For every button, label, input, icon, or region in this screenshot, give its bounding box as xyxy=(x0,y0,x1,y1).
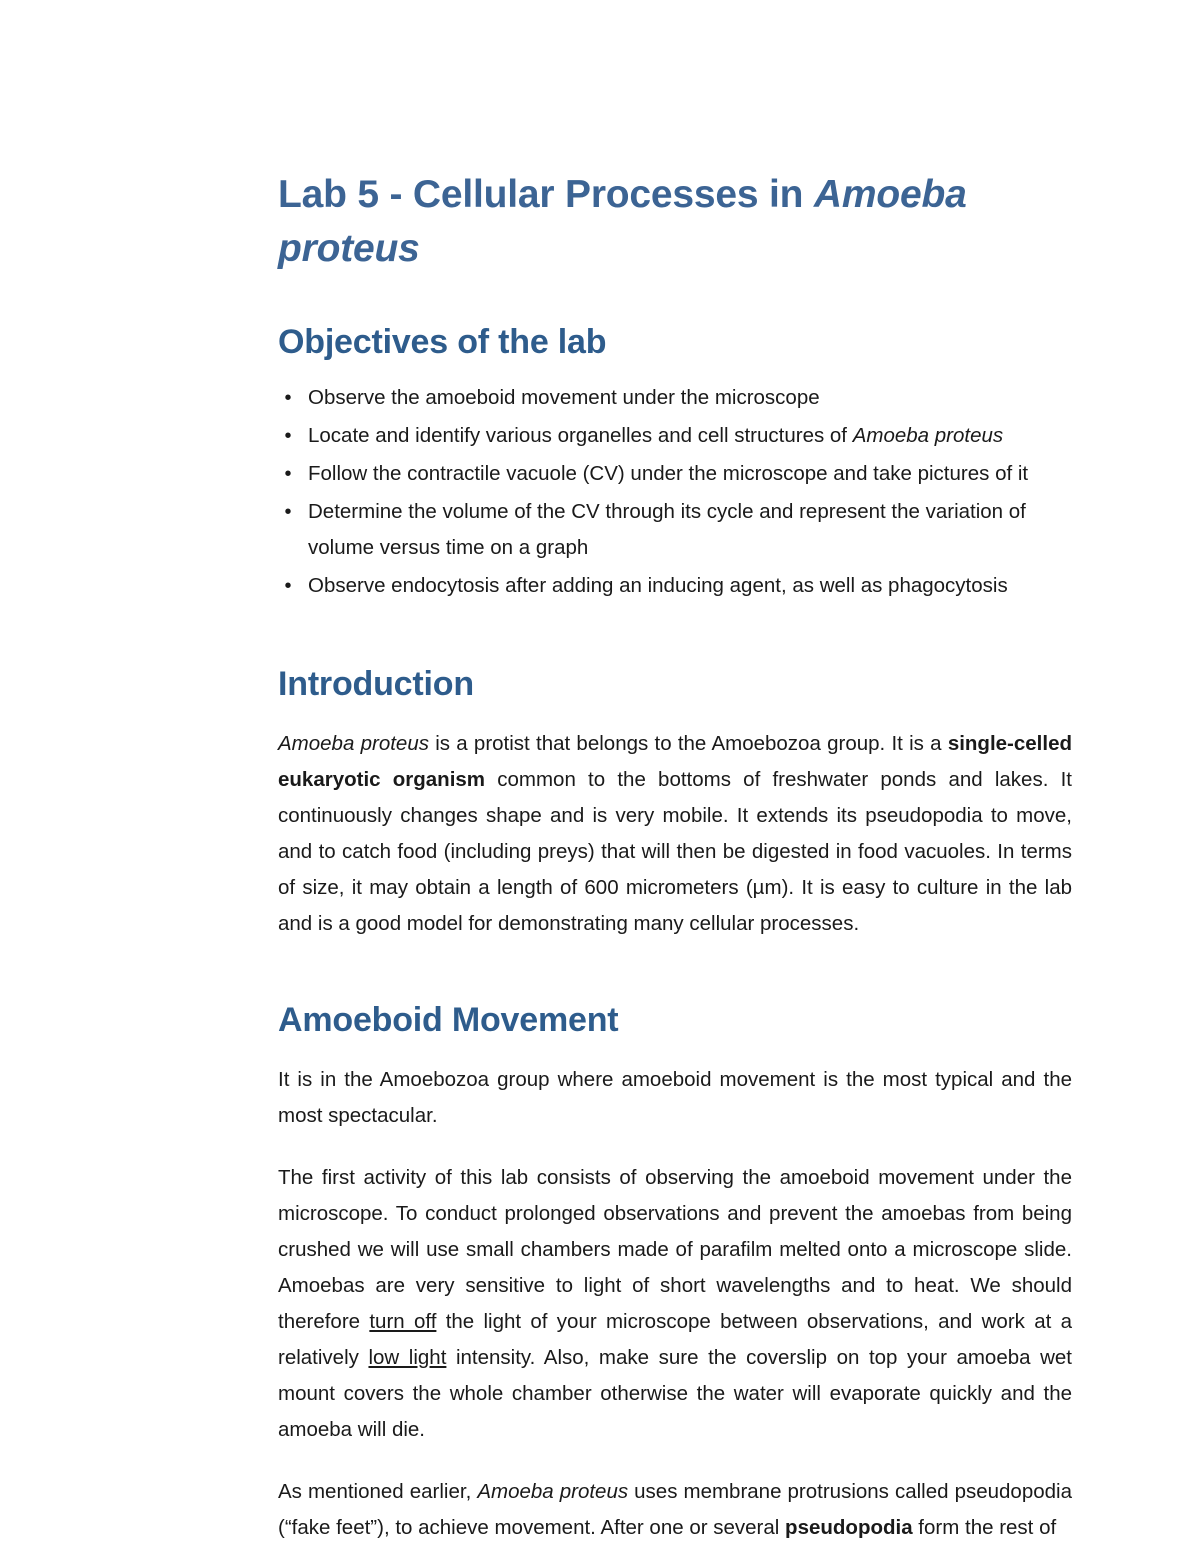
amoeboid3-species-italic: Amoeba proteus xyxy=(477,1480,628,1503)
bullet-icon: • xyxy=(283,568,293,604)
list-item: •Follow the contractile vacuole (CV) und… xyxy=(278,456,1072,492)
bullet-icon: • xyxy=(283,380,293,416)
document-content-column: Lab 5 - Cellular Processes in Amoeba pro… xyxy=(278,0,1072,1546)
amoeboid2-underline-low-light: low light xyxy=(368,1346,446,1369)
heading-introduction: Introduction xyxy=(278,606,1072,704)
heading-objectives: Objectives of the lab xyxy=(278,276,1072,362)
list-item-text: Determine the volume of the CV through i… xyxy=(308,500,1026,559)
paragraph-introduction: Amoeba proteus is a protist that belongs… xyxy=(278,704,1072,942)
intro-species-italic: Amoeba proteus xyxy=(278,732,429,755)
list-item-text: Observe the amoeboid movement under the … xyxy=(308,386,820,409)
amoeboid3-bold-pseudopodia: pseudopodia xyxy=(785,1516,913,1539)
list-item-text: Observe endocytosis after adding an indu… xyxy=(308,574,1008,597)
bullet-icon: • xyxy=(283,418,293,454)
objectives-list: •Observe the amoeboid movement under the… xyxy=(278,362,1072,604)
list-item: •Determine the volume of the CV through … xyxy=(278,494,1072,566)
list-item-text: Locate and identify various organelles a… xyxy=(308,424,853,447)
list-item: •Locate and identify various organelles … xyxy=(278,418,1072,454)
bullet-icon: • xyxy=(283,494,293,530)
paragraph-amoeboid-1: It is in the Amoebozoa group where amoeb… xyxy=(278,1040,1072,1134)
amoeboid3-seg1: As mentioned earlier, xyxy=(278,1480,477,1503)
document-page: Lab 5 - Cellular Processes in Amoeba pro… xyxy=(0,0,1200,1553)
intro-text-seg2: is a protist that belongs to the Amoeboz… xyxy=(429,732,948,755)
amoeboid3-seg5: form the rest of xyxy=(913,1516,1057,1539)
intro-text-seg4: common to the bottoms of freshwater pond… xyxy=(278,768,1072,935)
paragraph-amoeboid-3: As mentioned earlier, Amoeba proteus use… xyxy=(278,1448,1072,1546)
title-text-plain: Lab 5 - Cellular Processes in xyxy=(278,173,814,216)
page-title: Lab 5 - Cellular Processes in Amoeba pro… xyxy=(278,0,1072,276)
list-item: •Observe endocytosis after adding an ind… xyxy=(278,568,1072,604)
paragraph-amoeboid-2: The first activity of this lab consists … xyxy=(278,1134,1072,1448)
heading-amoeboid-movement: Amoeboid Movement xyxy=(278,942,1072,1040)
list-item: •Observe the amoeboid movement under the… xyxy=(278,380,1072,416)
amoeboid2-seg1: The first activity of this lab consists … xyxy=(278,1166,1072,1333)
list-item-species-italic: Amoeba proteus xyxy=(853,424,1003,447)
amoeboid2-underline-turn-off: turn off xyxy=(369,1310,436,1333)
bullet-icon: • xyxy=(283,456,293,492)
list-item-text: Follow the contractile vacuole (CV) unde… xyxy=(308,462,1028,485)
